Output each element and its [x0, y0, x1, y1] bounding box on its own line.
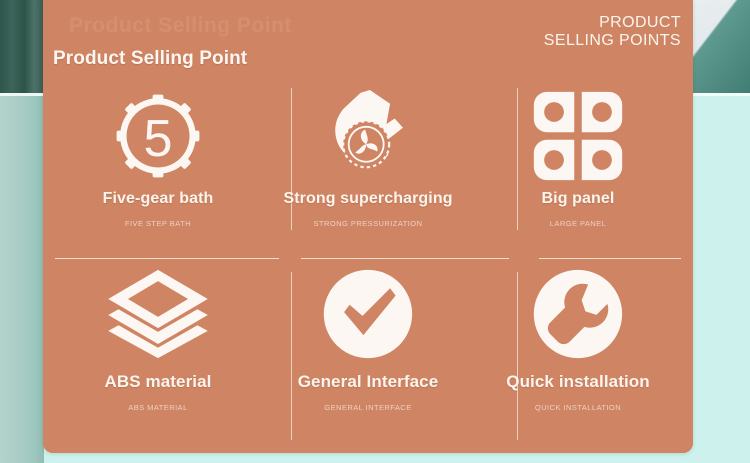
feature-subtitle: STRONG PRESSURIZATION [314, 219, 423, 228]
feature-title: Strong supercharging [283, 190, 452, 208]
feature-title: Quick installation [506, 372, 650, 392]
feature-subtitle: GENERAL INTERFACE [324, 403, 411, 412]
background-left-highlight [0, 93, 44, 96]
feature-grid: 5 Five-gear bath FIVE STEP BATH [53, 84, 683, 450]
feature-cell-strong-supercharging: Strong supercharging STRONG PRESSURIZATI… [263, 84, 473, 258]
feature-cell-general-interface: General Interface GENERAL INTERFACE [263, 258, 473, 450]
selling-point-card: Product Selling Point Product Selling Po… [43, 0, 693, 453]
stacked-layers-icon [53, 258, 263, 370]
feature-cell-big-panel: Big panel LARGE PANEL [473, 84, 683, 258]
feature-cell-five-gear-bath: 5 Five-gear bath FIVE STEP BATH [53, 84, 263, 258]
wrench-circle-icon [473, 258, 683, 370]
checkmark-circle-icon [263, 258, 473, 370]
feature-cell-quick-installation: Quick installation QUICK INSTALLATION [473, 258, 683, 450]
feature-subtitle: ABS MATERIAL [128, 403, 187, 412]
background-right-highlight [690, 93, 750, 96]
card-eyebrow-line-2: SELLING POINTS [544, 32, 681, 50]
feature-title: Big panel [542, 190, 615, 208]
turbocharger-icon [263, 84, 473, 188]
feature-subtitle: QUICK INSTALLATION [535, 403, 621, 412]
feature-subtitle: LARGE PANEL [550, 219, 607, 228]
card-eyebrow: PRODUCT SELLING POINTS [544, 14, 681, 51]
feature-title: ABS material [104, 372, 211, 392]
four-panel-grid-icon [473, 84, 683, 188]
page-title: Product Selling Point [53, 48, 247, 70]
five-gear-dial-icon: 5 [53, 84, 263, 188]
five-gear-number: 5 [143, 110, 172, 168]
background-left-sage-strip [0, 96, 44, 463]
card-watermark: Product Selling Point [69, 14, 292, 38]
feature-title: Five-gear bath [103, 190, 214, 208]
background-left-dark-strip [0, 0, 44, 96]
card-eyebrow-line-1: PRODUCT [544, 14, 681, 32]
feature-title: General Interface [298, 372, 439, 392]
feature-subtitle: FIVE STEP BATH [125, 219, 191, 228]
feature-cell-abs-material: ABS material ABS MATERIAL [53, 258, 263, 450]
